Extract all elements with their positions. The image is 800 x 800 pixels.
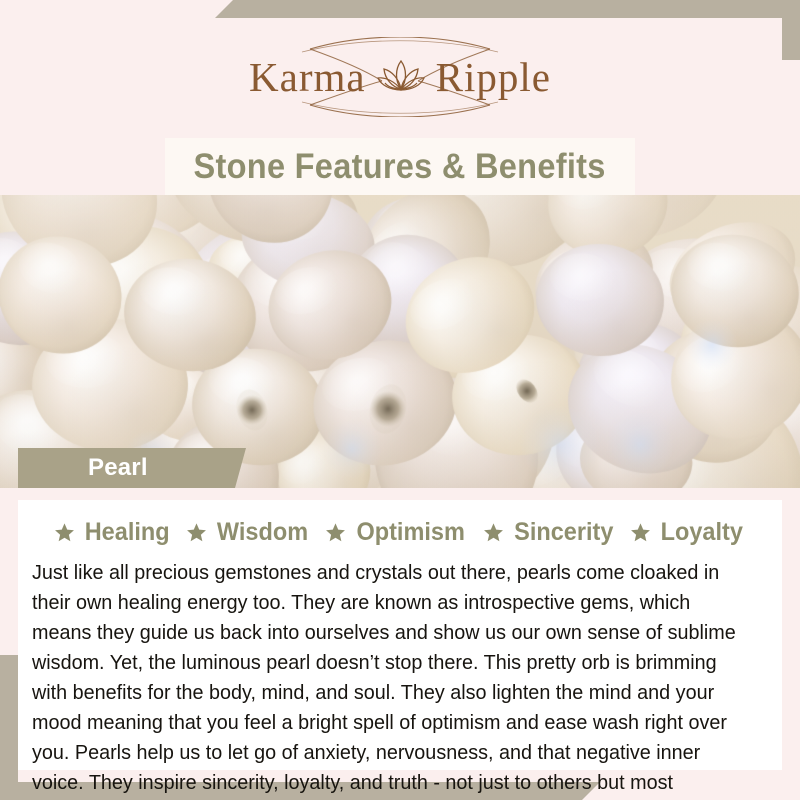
corner-accent-top-right <box>215 0 800 18</box>
stone-description: Just like all precious gemstones and cry… <box>32 558 742 800</box>
star-icon <box>186 522 207 543</box>
brand-header: Karma Ripple <box>18 18 782 136</box>
star-icon <box>54 522 75 543</box>
corner-accent-left-strip <box>0 655 18 800</box>
keyword-label: Sincerity <box>514 518 613 547</box>
brand-name-right: Ripple <box>436 57 551 98</box>
page-title: Stone Features & Benefits <box>194 147 606 187</box>
keyword-item: Wisdom <box>186 518 311 547</box>
section-title-band: Stone Features & Benefits <box>165 138 635 196</box>
star-icon <box>483 522 504 543</box>
keyword-item: Loyalty <box>630 518 746 547</box>
keyword-label: Optimism <box>357 518 465 547</box>
corner-accent-right-strip <box>782 0 800 60</box>
brand-name-left: Karma <box>249 57 366 98</box>
keyword-label: Wisdom <box>217 518 308 547</box>
stone-name-banner: Pearl <box>18 448 246 488</box>
pearl-photo <box>0 195 800 488</box>
star-icon <box>325 522 346 543</box>
keyword-label: Healing <box>85 518 170 547</box>
brand-logo: Karma Ripple <box>190 37 610 117</box>
lotus-icon <box>376 55 426 99</box>
stone-name-label: Pearl <box>88 454 148 482</box>
keyword-item: Optimism <box>325 518 468 547</box>
pearl-photo-canvas <box>0 195 800 488</box>
infographic-card: Karma Ripple Stone Features & Benefits P… <box>0 0 800 800</box>
keyword-item: Healing <box>54 518 172 547</box>
keyword-label: Loyalty <box>661 518 743 547</box>
keyword-item: Sincerity <box>483 518 617 547</box>
keyword-list: HealingWisdomOptimismSincerityLoyalty <box>18 500 782 554</box>
body-panel: HealingWisdomOptimismSincerityLoyalty Ju… <box>18 500 782 770</box>
star-icon <box>630 522 651 543</box>
